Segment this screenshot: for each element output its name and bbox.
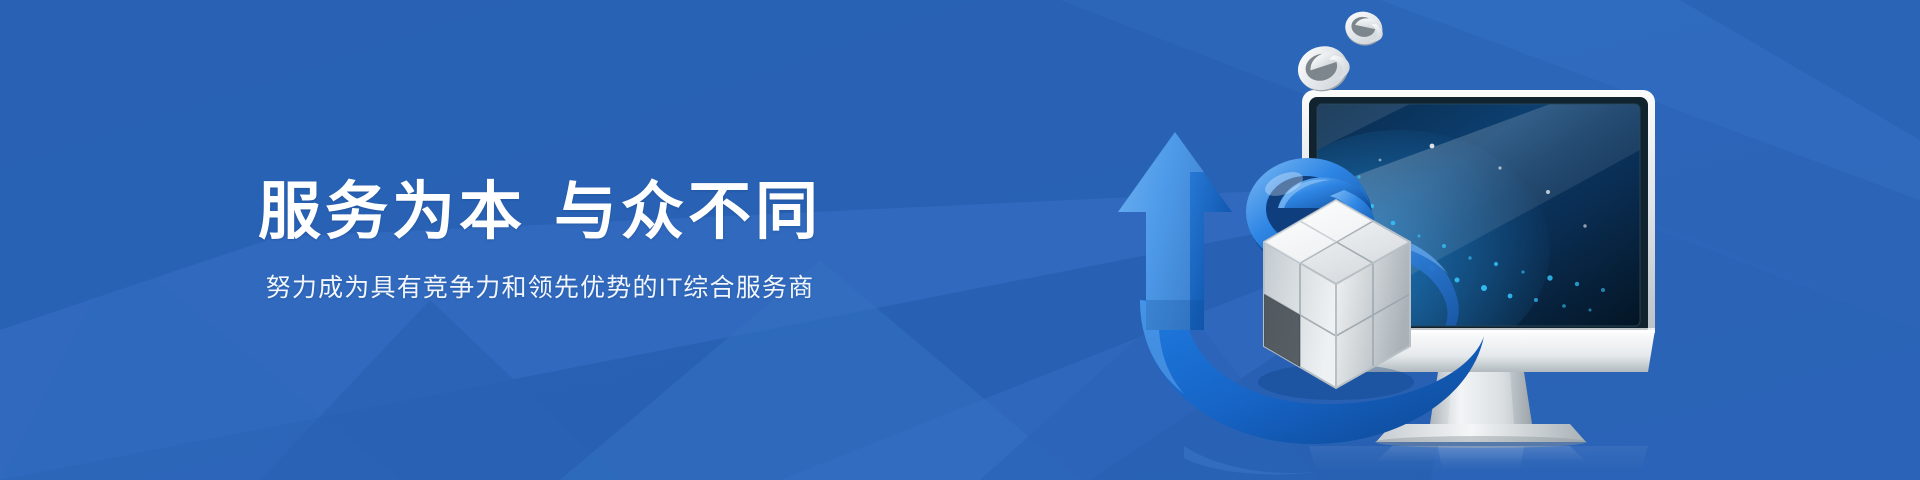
page-subtitle: 努力成为具有竞争力和领先优势的IT综合服务商: [266, 272, 815, 305]
page-title: 服务为本与众不同: [258, 176, 822, 248]
headline-segment-2: 与众不同: [554, 177, 822, 247]
hero-banner: 服务为本与众不同 努力成为具有竞争力和领先优势的IT综合服务商: [0, 0, 1920, 480]
headline-segment-1: 服务为本: [258, 177, 526, 247]
